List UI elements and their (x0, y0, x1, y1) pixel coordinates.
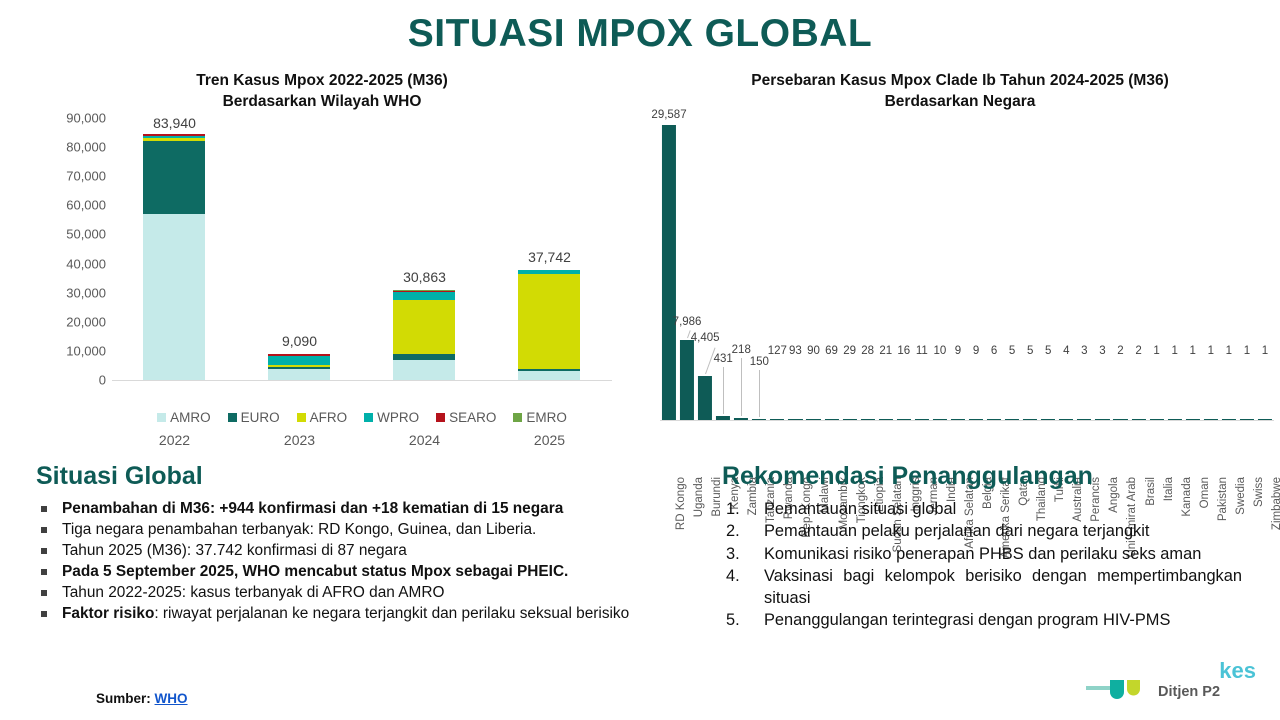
rekomendasi-number: 1. (726, 499, 740, 520)
country-value-label: 5 (1009, 345, 1015, 357)
country-bar[interactable] (1005, 419, 1019, 420)
x-category-label: 2022 (112, 432, 237, 448)
bar-segment-afro (268, 365, 330, 367)
country-bar[interactable] (1023, 419, 1037, 420)
country-bar-column: 69Mozambik (823, 125, 841, 420)
country-value-label: 1 (1262, 345, 1268, 357)
legend-item-afro[interactable]: AFRO (297, 410, 348, 425)
bar-total-label: 9,090 (237, 333, 362, 349)
legend-swatch-icon (157, 413, 166, 422)
bar-segment-afro (518, 274, 580, 369)
bar-segment-amro (393, 360, 455, 380)
country-value-label: 5 (1027, 345, 1033, 357)
legend-item-amro[interactable]: AMRO (157, 410, 211, 425)
right-chart-axis-line (660, 420, 1274, 421)
logo-kes-text: kes (1219, 658, 1256, 684)
stacked-bar[interactable] (518, 270, 580, 380)
country-bar[interactable] (1095, 419, 1109, 420)
rekomendasi-text: Pemantauan pelaku perjalanan dari negara… (764, 522, 1149, 540)
y-tick-label: 40,000 (66, 256, 106, 271)
legend-swatch-icon (364, 413, 373, 422)
country-bar[interactable] (680, 340, 694, 420)
leader-line (759, 370, 760, 417)
bar-total-label: 30,863 (362, 269, 487, 285)
country-bar-column: 7,986Uganda (678, 125, 696, 420)
legend-label: SEARO (449, 410, 496, 425)
right-chart: Persebaran Kasus Mpox Clade Ib Tahun 202… (640, 70, 1280, 450)
left-chart-title: Tren Kasus Mpox 2022-2025 (M36) Berdasar… (16, 70, 628, 113)
country-bar-column: 16Inggris (895, 125, 913, 420)
country-bar[interactable] (915, 419, 929, 420)
bar-segment-searo (143, 134, 205, 136)
country-bar-column: 5Thailand (1021, 125, 1039, 420)
bar-segment-amro (143, 214, 205, 380)
country-bar-column: 9Belgia (967, 125, 985, 420)
bar-segment-wpro (518, 270, 580, 274)
bar-segment-euro (143, 141, 205, 214)
legend-item-emro[interactable]: EMRO (513, 410, 567, 425)
country-bar[interactable] (824, 419, 838, 420)
bar-segment-searo (268, 354, 330, 356)
country-bar[interactable] (1131, 419, 1145, 420)
legend-label: EURO (241, 410, 280, 425)
left-chart-plot: 202283,94020239,090202430,863202537,742 (112, 118, 612, 380)
country-value-label: 5 (1045, 345, 1051, 357)
country-bar-column: 6Amerika Serikat (985, 125, 1003, 420)
stacked-bar[interactable] (268, 354, 330, 380)
country-bar-column: 4,405Burundi (696, 125, 714, 420)
country-bar-column: 21Sudan Selatan (877, 125, 895, 420)
y-tick-label: 20,000 (66, 314, 106, 329)
situasi-bullet-text: Tahun 2022-2025: kasus terbanyak di AFRO… (62, 584, 444, 601)
country-bar[interactable] (987, 419, 1001, 420)
country-value-label: 2 (1117, 345, 1123, 357)
leader-line (741, 358, 742, 416)
country-bar[interactable] (1222, 419, 1236, 420)
country-bar[interactable] (861, 419, 875, 420)
x-category-label: 2025 (487, 432, 612, 448)
situasi-bullet-item: Tahun 2025 (M36): 37.742 konfirmasi di 8… (36, 541, 708, 561)
y-tick-label: 30,000 (66, 285, 106, 300)
bar-segment-afro (143, 138, 205, 141)
country-axis-label: Swiss (1253, 477, 1265, 507)
bar-segment-amro (268, 369, 330, 380)
situasi-global-section: Situasi Global Penambahan di M36: +944 k… (36, 462, 708, 625)
country-bar[interactable] (788, 419, 802, 420)
left-chart-axis-line (112, 380, 612, 381)
left-chart: Tren Kasus Mpox 2022-2025 (M36) Berdasar… (16, 70, 628, 438)
country-bar-column: 1Oman (1184, 125, 1202, 420)
country-axis-label: Zimbabwe (1271, 477, 1280, 530)
country-value-label: 9 (973, 345, 979, 357)
bar-total-label: 37,742 (487, 249, 612, 265)
situasi-global-heading: Situasi Global (36, 462, 708, 491)
leader-line (723, 367, 724, 414)
y-tick-label: 90,000 (66, 111, 106, 126)
x-category-label: 2024 (362, 432, 487, 448)
y-tick-label: 60,000 (66, 198, 106, 213)
country-bar[interactable] (734, 418, 748, 420)
rekomendasi-item: 2.Pemantauan pelaku perjalanan dari nega… (722, 521, 1242, 542)
country-value-label: 29 (843, 345, 856, 357)
country-bar[interactable] (770, 419, 784, 420)
situasi-bullet-item: Tiga negara penambahan terbanyak: RD Kon… (36, 520, 708, 540)
bar-segment-emro (393, 290, 455, 292)
country-bar[interactable] (1059, 419, 1073, 420)
country-bar-column: 10India (931, 125, 949, 420)
country-value-label: 1 (1171, 345, 1177, 357)
rekomendasi-text: Penanggulangan terintegrasi dengan progr… (764, 611, 1170, 629)
bullet-square-icon (41, 527, 47, 533)
country-bar-column: 5Turki (1039, 125, 1057, 420)
country-bar[interactable] (806, 419, 820, 420)
source-note: Sumber: WHO (96, 691, 188, 706)
country-value-label: 1 (1208, 345, 1214, 357)
country-bar[interactable] (1041, 419, 1055, 420)
logo-ditjen-text: Ditjen P2 (1158, 684, 1220, 700)
country-bar[interactable] (662, 125, 676, 420)
country-bar[interactable] (879, 419, 893, 420)
bar-segment-wpro (393, 292, 455, 300)
country-bar[interactable] (969, 419, 983, 420)
country-value-label: 16 (897, 345, 910, 357)
country-value-label: 93 (789, 345, 802, 357)
legend-label: AFRO (310, 410, 348, 425)
country-bar-column: 218Zambia (732, 125, 750, 420)
country-bar-column: 2Brasil (1130, 125, 1148, 420)
country-value-label: 6 (991, 345, 997, 357)
bar-segment-euro (518, 369, 580, 372)
country-value-label: 3 (1081, 345, 1087, 357)
bar-group: 30,863 (362, 118, 487, 380)
country-bar-column: 1Kanada (1166, 125, 1184, 420)
rekomendasi-number: 5. (726, 610, 740, 631)
rekomendasi-heading: Rekomendasi Penanggulangan (722, 462, 1242, 491)
rekomendasi-section: Rekomendasi Penanggulangan 1.Pemantauan … (722, 462, 1242, 633)
country-value-label: 9 (955, 345, 961, 357)
rekomendasi-list: 1.Pemantauan situasi global2.Pemantauan … (722, 499, 1242, 632)
source-link-who[interactable]: WHO (155, 691, 188, 706)
situasi-bullet-item: Pada 5 September 2025, WHO mencabut stat… (36, 562, 708, 582)
bar-group: 9,090 (237, 118, 362, 380)
country-value-label: 218 (732, 344, 751, 356)
legend-item-wpro[interactable]: WPRO (364, 410, 419, 425)
rekomendasi-text: Komunikasi risiko penerapan PHBS dan per… (764, 545, 1201, 563)
country-bar[interactable] (1204, 419, 1218, 420)
country-bar[interactable] (1113, 419, 1127, 420)
legend-label: AMRO (170, 410, 211, 425)
right-chart-title: Persebaran Kasus Mpox Clade Ib Tahun 202… (640, 70, 1280, 113)
country-bar[interactable] (752, 419, 766, 420)
organization-logo: kes Ditjen P2 (1082, 660, 1262, 710)
ditjen-logo-icon (1086, 674, 1158, 708)
right-chart-title-line1: Persebaran Kasus Mpox Clade Ib Tahun 202… (640, 70, 1280, 91)
country-bar[interactable] (843, 419, 857, 420)
legend-swatch-icon (436, 413, 445, 422)
country-bar-column: 3Angola (1093, 125, 1111, 420)
bar-segment-wpro (268, 356, 330, 366)
y-tick-label: 50,000 (66, 227, 106, 242)
country-bar[interactable] (1258, 419, 1272, 420)
country-bar-column: 1Pakistan (1202, 125, 1220, 420)
bar-segment-wpro (143, 136, 205, 138)
situasi-bullet-text: Tiga negara penambahan terbanyak: RD Kon… (62, 521, 536, 538)
legend-label: WPRO (377, 410, 419, 425)
right-chart-title-line2: Berdasarkan Negara (640, 91, 1280, 112)
country-bar-column: 4Australia (1057, 125, 1075, 420)
country-bar-column: 431Kenya (714, 125, 732, 420)
stacked-bar[interactable] (143, 136, 205, 380)
country-bar[interactable] (1150, 419, 1164, 420)
slide-root: SITUASI MPOX GLOBAL Tren Kasus Mpox 2022… (0, 0, 1280, 720)
country-bar-column: 127Rwanda (768, 125, 786, 420)
country-bar-column: 1Swiss (1238, 125, 1256, 420)
country-value-label: 2 (1135, 345, 1141, 357)
situasi-bullet-item: Penambahan di M36: +944 konfirmasi dan +… (36, 499, 708, 519)
country-bar-column: 5Qatar (1003, 125, 1021, 420)
bar-segment-afro (393, 300, 455, 354)
situasi-bullet-item: Tahun 2022-2025: kasus terbanyak di AFRO… (36, 583, 708, 603)
rekomendasi-number: 4. (726, 566, 740, 587)
country-value-label: 150 (750, 356, 769, 368)
bullet-bold-prefix: Faktor risiko (62, 605, 154, 622)
y-tick-label: 80,000 (66, 140, 106, 155)
country-bar-column: 93Rep. Kongo (786, 125, 804, 420)
country-bar-column: 1Swedia (1220, 125, 1238, 420)
country-bar[interactable] (951, 419, 965, 420)
country-value-label: 10 (933, 345, 946, 357)
country-value-label: 4 (1063, 345, 1069, 357)
country-bar-column: 9Afrika Selatan (949, 125, 967, 420)
country-bar[interactable] (698, 376, 712, 420)
country-bar-column: 3Perancis (1075, 125, 1093, 420)
country-value-label: 90 (807, 345, 820, 357)
left-chart-y-axis: 010,00020,00030,00040,00050,00060,00070,… (16, 118, 106, 380)
country-bar[interactable] (1168, 419, 1182, 420)
country-bar-column: 90Malawi (804, 125, 822, 420)
right-chart-plot: 29,587RD Kongo7,986Uganda4,405Burundi431… (660, 125, 1274, 420)
legend-swatch-icon (513, 413, 522, 422)
situasi-global-list: Penambahan di M36: +944 konfirmasi dan +… (36, 499, 708, 624)
rekomendasi-item: 5.Penanggulangan terintegrasi dengan pro… (722, 610, 1242, 631)
bullet-square-icon (41, 590, 47, 596)
country-value-label: 1 (1153, 345, 1159, 357)
bar-segment-amro (518, 371, 580, 380)
country-bar-column: 29Tiongkok (841, 125, 859, 420)
country-value-label: 1 (1190, 345, 1196, 357)
situasi-bullet-text: Faktor risiko: riwayat perjalanan ke neg… (62, 605, 629, 622)
country-bar-column: 150Tanzania (750, 125, 768, 420)
stacked-bar[interactable] (393, 290, 455, 380)
country-bar[interactable] (716, 416, 730, 420)
bullet-square-icon (41, 611, 47, 617)
country-value-label: 11 (916, 345, 928, 357)
country-value-label: 3 (1099, 345, 1105, 357)
left-chart-legend: AMROEUROAFROWPROSEAROEMRO (112, 410, 612, 425)
rekomendasi-text: Pemantauan situasi global (764, 500, 956, 518)
country-bar[interactable] (897, 419, 911, 420)
country-bar[interactable] (933, 419, 947, 420)
legend-label: EMRO (526, 410, 567, 425)
bullet-square-icon (41, 506, 47, 512)
y-tick-label: 0 (99, 373, 106, 388)
left-chart-title-line1: Tren Kasus Mpox 2022-2025 (M36) (16, 70, 628, 91)
country-bar-column: 29,587RD Kongo (660, 125, 678, 420)
bar-total-label: 83,940 (112, 115, 237, 131)
bullet-square-icon (41, 548, 47, 554)
country-value-label: 431 (714, 353, 733, 365)
bar-group: 37,742 (487, 118, 612, 380)
country-value-label: 29,587 (651, 109, 686, 121)
bullet-square-icon (41, 569, 47, 575)
bar-group: 83,940 (112, 118, 237, 380)
country-value-label: 1 (1244, 345, 1250, 357)
legend-swatch-icon (297, 413, 306, 422)
legend-item-searo[interactable]: SEARO (436, 410, 496, 425)
country-bar[interactable] (1186, 419, 1200, 420)
situasi-bullet-text: Tahun 2025 (M36): 37.742 konfirmasi di 8… (62, 542, 407, 559)
country-bar[interactable] (1077, 419, 1091, 420)
y-tick-label: 70,000 (66, 169, 106, 184)
left-chart-title-line2: Berdasarkan Wilayah WHO (16, 91, 628, 112)
rekomendasi-number: 3. (726, 544, 740, 565)
country-bar-column: 2Uni Emirat Arab (1111, 125, 1129, 420)
country-value-label: 127 (768, 345, 787, 357)
bar-segment-euro (268, 367, 330, 369)
rekomendasi-item: 3.Komunikasi risiko penerapan PHBS dan p… (722, 544, 1242, 565)
country-bar-column: 1Zimbabwe (1256, 125, 1274, 420)
country-bar-column: 1Italia (1148, 125, 1166, 420)
country-value-label: 69 (825, 345, 838, 357)
rekomendasi-number: 2. (726, 521, 740, 542)
country-bar-column: 11Jerman (913, 125, 931, 420)
rekomendasi-item: 1.Pemantauan situasi global (722, 499, 1242, 520)
situasi-bullet-text: Pada 5 September 2025, WHO mencabut stat… (62, 563, 568, 580)
rekomendasi-text: Vaksinasi bagi kelompok berisiko dengan … (764, 567, 1242, 606)
legend-item-euro[interactable]: EURO (228, 410, 280, 425)
country-bar-column: 28Etiopia (859, 125, 877, 420)
country-value-label: 21 (879, 345, 892, 357)
legend-swatch-icon (228, 413, 237, 422)
y-tick-label: 10,000 (66, 343, 106, 358)
situasi-bullet-item: Faktor risiko: riwayat perjalanan ke neg… (36, 604, 708, 624)
page-title: SITUASI MPOX GLOBAL (0, 12, 1280, 56)
x-category-label: 2023 (237, 432, 362, 448)
bar-segment-euro (393, 354, 455, 360)
rekomendasi-item: 4.Vaksinasi bagi kelompok berisiko denga… (722, 566, 1242, 609)
source-label: Sumber: (96, 691, 151, 706)
country-value-label: 1 (1226, 345, 1232, 357)
situasi-bullet-text: Penambahan di M36: +944 konfirmasi dan +… (62, 500, 563, 517)
country-bar[interactable] (1240, 419, 1254, 420)
country-value-label: 28 (861, 345, 874, 357)
